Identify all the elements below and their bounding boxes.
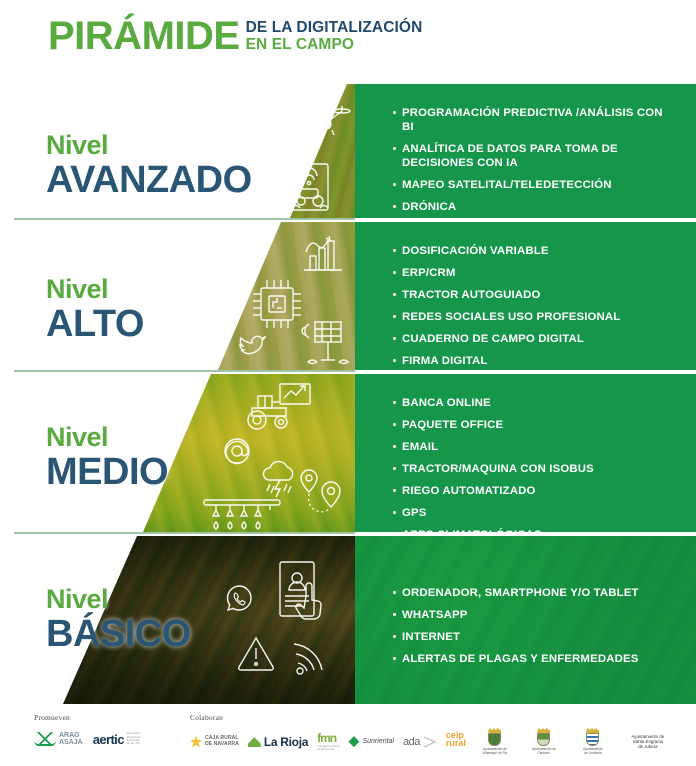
poster-footer: Promueven Colaboran ARAG ASAJA aertic As… (0, 704, 696, 766)
infographic-poster: PIRÁMIDE DE LA DIGITALIZACIÓN EN EL CAMP… (0, 0, 696, 766)
shield-body (488, 733, 501, 746)
sunriental-text: Sunriental (362, 738, 394, 745)
page-subtitle: DE LA DIGITALIZACIÓN EN EL CAMPO (246, 19, 423, 53)
list-item: ANALÍTICA DE DATOS PARA TOMA DE DECISION… (393, 142, 672, 170)
list-item: RIEGO AUTOMATIZADO (393, 484, 636, 498)
pyramid-level-basico: ORDENADOR, SMARTPHONE Y/O TABLET WHATSAP… (0, 536, 696, 704)
arag-asaja-text: ARAG ASAJA (59, 732, 83, 747)
ada-arrow-icon (423, 736, 437, 748)
list-item: BANCA ONLINE (393, 396, 636, 410)
list-item: DOSIFICACIÓN VARIABLE (393, 244, 692, 258)
urunuela-caption: Ayuntamiento de Uruñuela (583, 748, 602, 755)
list-item: ORDENADOR, SMARTPHONE Y/O TABLET (393, 586, 656, 600)
list-item: GPS (393, 506, 636, 520)
ada-text: ada (403, 736, 420, 748)
list-item: PAQUETE OFFICE (393, 418, 636, 432)
santa-engracia-caption: Ayuntamiento de Santa Engracia de Jubera (631, 734, 664, 749)
rural-text: rural (446, 739, 466, 747)
colaboran-label: Colaboran (190, 713, 223, 722)
colaboran-logo-row: CAJA RURAL DE NAVARRA La Rioja fmn Funda… (190, 728, 674, 755)
aertic-text: aertic (93, 732, 124, 747)
aertic-logo: aertic Asociación Riojana de Empresas de… (93, 728, 141, 750)
list-item: WHATSAPP (393, 608, 656, 622)
sunriental-diamond-icon (348, 736, 359, 747)
list-item: APPS CLIMATOLÓGICAS (393, 528, 636, 532)
urunuela-shield-icon (585, 728, 600, 747)
la-rioja-text: La Rioja (264, 735, 308, 749)
la-rioja-mark-icon (248, 736, 261, 747)
promueven-label: Promueven (34, 713, 70, 722)
list-item: ALERTAS DE PLAGAS Y ENFERMEDADES (393, 652, 656, 666)
fmn-logo: fmn Fundación Mutua de Motivación (317, 731, 339, 753)
pyramid-diagram: PROGRAMACIÓN PREDICTIVA /ANÁLISIS CON BI… (0, 84, 696, 704)
list-item: ERP/CRM (393, 266, 692, 280)
cenicero-caption: Ayuntamiento de Cenicero (532, 748, 556, 755)
level-bullet-list-alto: DOSIFICACIÓN VARIABLE ERP/CRM TRACTOR AU… (393, 244, 692, 370)
ayuntamiento-santa-engracia-logo: Ayuntamiento de Santa Engracia de Jubera (622, 734, 674, 749)
fmn-caption: Fundación Mutua de Motivación (317, 745, 339, 752)
promueven-logo-row: ARAG ASAJA aertic Asociación Riojana de … (34, 728, 141, 750)
ayuntamiento-cenicero-logo: Ayuntamiento de Cenicero (524, 728, 564, 755)
level-divider (14, 218, 696, 220)
list-item: FIRMA DIGITAL (393, 354, 692, 368)
villamayor-shield-icon (487, 728, 502, 747)
caja-rural-text: CAJA RURAL DE NAVARRA (205, 736, 239, 747)
fmn-text: fmn (317, 731, 336, 745)
caja-rural-flower-icon (190, 736, 202, 748)
shield-body (537, 733, 550, 746)
list-item: DRÓNICA (393, 200, 672, 214)
aertic-caption: Asociación Riojana de Empresas de las TI… (127, 732, 141, 746)
level-divider (14, 532, 696, 534)
arag-mark-icon (34, 732, 56, 746)
shield-body (586, 733, 599, 746)
ceip-rural-logo: ceip rural (446, 731, 466, 753)
ayuntamiento-villamayor-logo: Ayuntamiento de Villamayor de Rio (475, 728, 515, 755)
ada-logo: ada (403, 731, 437, 753)
list-item: PROGRAMACIÓN PREDICTIVA /ANÁLISIS CON BI (393, 106, 672, 134)
arag-asaja-logo: ARAG ASAJA (34, 728, 83, 750)
level-bullet-list-medio: BANCA ONLINE PAQUETE OFFICE EMAIL TRACTO… (393, 396, 636, 532)
poster-header: PIRÁMIDE DE LA DIGITALIZACIÓN EN EL CAMP… (0, 0, 696, 80)
pyramid-level-medio: BANCA ONLINE PAQUETE OFFICE EMAIL TRACTO… (0, 374, 696, 532)
list-item: INTERNET (393, 630, 656, 644)
subtitle-line-1: DE LA DIGITALIZACIÓN (246, 19, 423, 36)
list-item: TRACTOR AUTOGUIADO (393, 288, 692, 302)
cenicero-shield-icon (536, 728, 551, 747)
caja-rural-de-navarra-logo: CAJA RURAL DE NAVARRA (190, 731, 239, 753)
list-item: TRACTOR/MAQUINA CON ISOBUS (393, 462, 636, 476)
sunriental-logo: Sunriental (348, 731, 394, 753)
la-rioja-logo: La Rioja (248, 731, 308, 753)
list-item: CUADERNO DE CAMPO DIGITAL (393, 332, 692, 346)
list-item: MAPEO SATELITAL/TELEDETECCIÓN (393, 178, 672, 192)
list-item: REDES SOCIALES USO PROFESIONAL (393, 310, 692, 324)
level-bullet-list-avanzado: PROGRAMACIÓN PREDICTIVA /ANÁLISIS CON BI… (393, 106, 672, 218)
level-divider (14, 370, 696, 372)
level-bullet-list-basico: ORDENADOR, SMARTPHONE Y/O TABLET WHATSAP… (393, 586, 656, 674)
subtitle-line-2: EN EL CAMPO (246, 36, 423, 53)
villamayor-caption: Ayuntamiento de Villamayor de Rio (482, 748, 507, 755)
pyramid-level-avanzado: PROGRAMACIÓN PREDICTIVA /ANÁLISIS CON BI… (0, 84, 696, 218)
ayuntamiento-urunuela-logo: Ayuntamiento de Uruñuela (573, 728, 613, 755)
pyramid-level-alto: DOSIFICACIÓN VARIABLE ERP/CRM TRACTOR AU… (0, 222, 696, 370)
page-title: PIRÁMIDE (48, 14, 240, 58)
list-item: EMAIL (393, 440, 636, 454)
